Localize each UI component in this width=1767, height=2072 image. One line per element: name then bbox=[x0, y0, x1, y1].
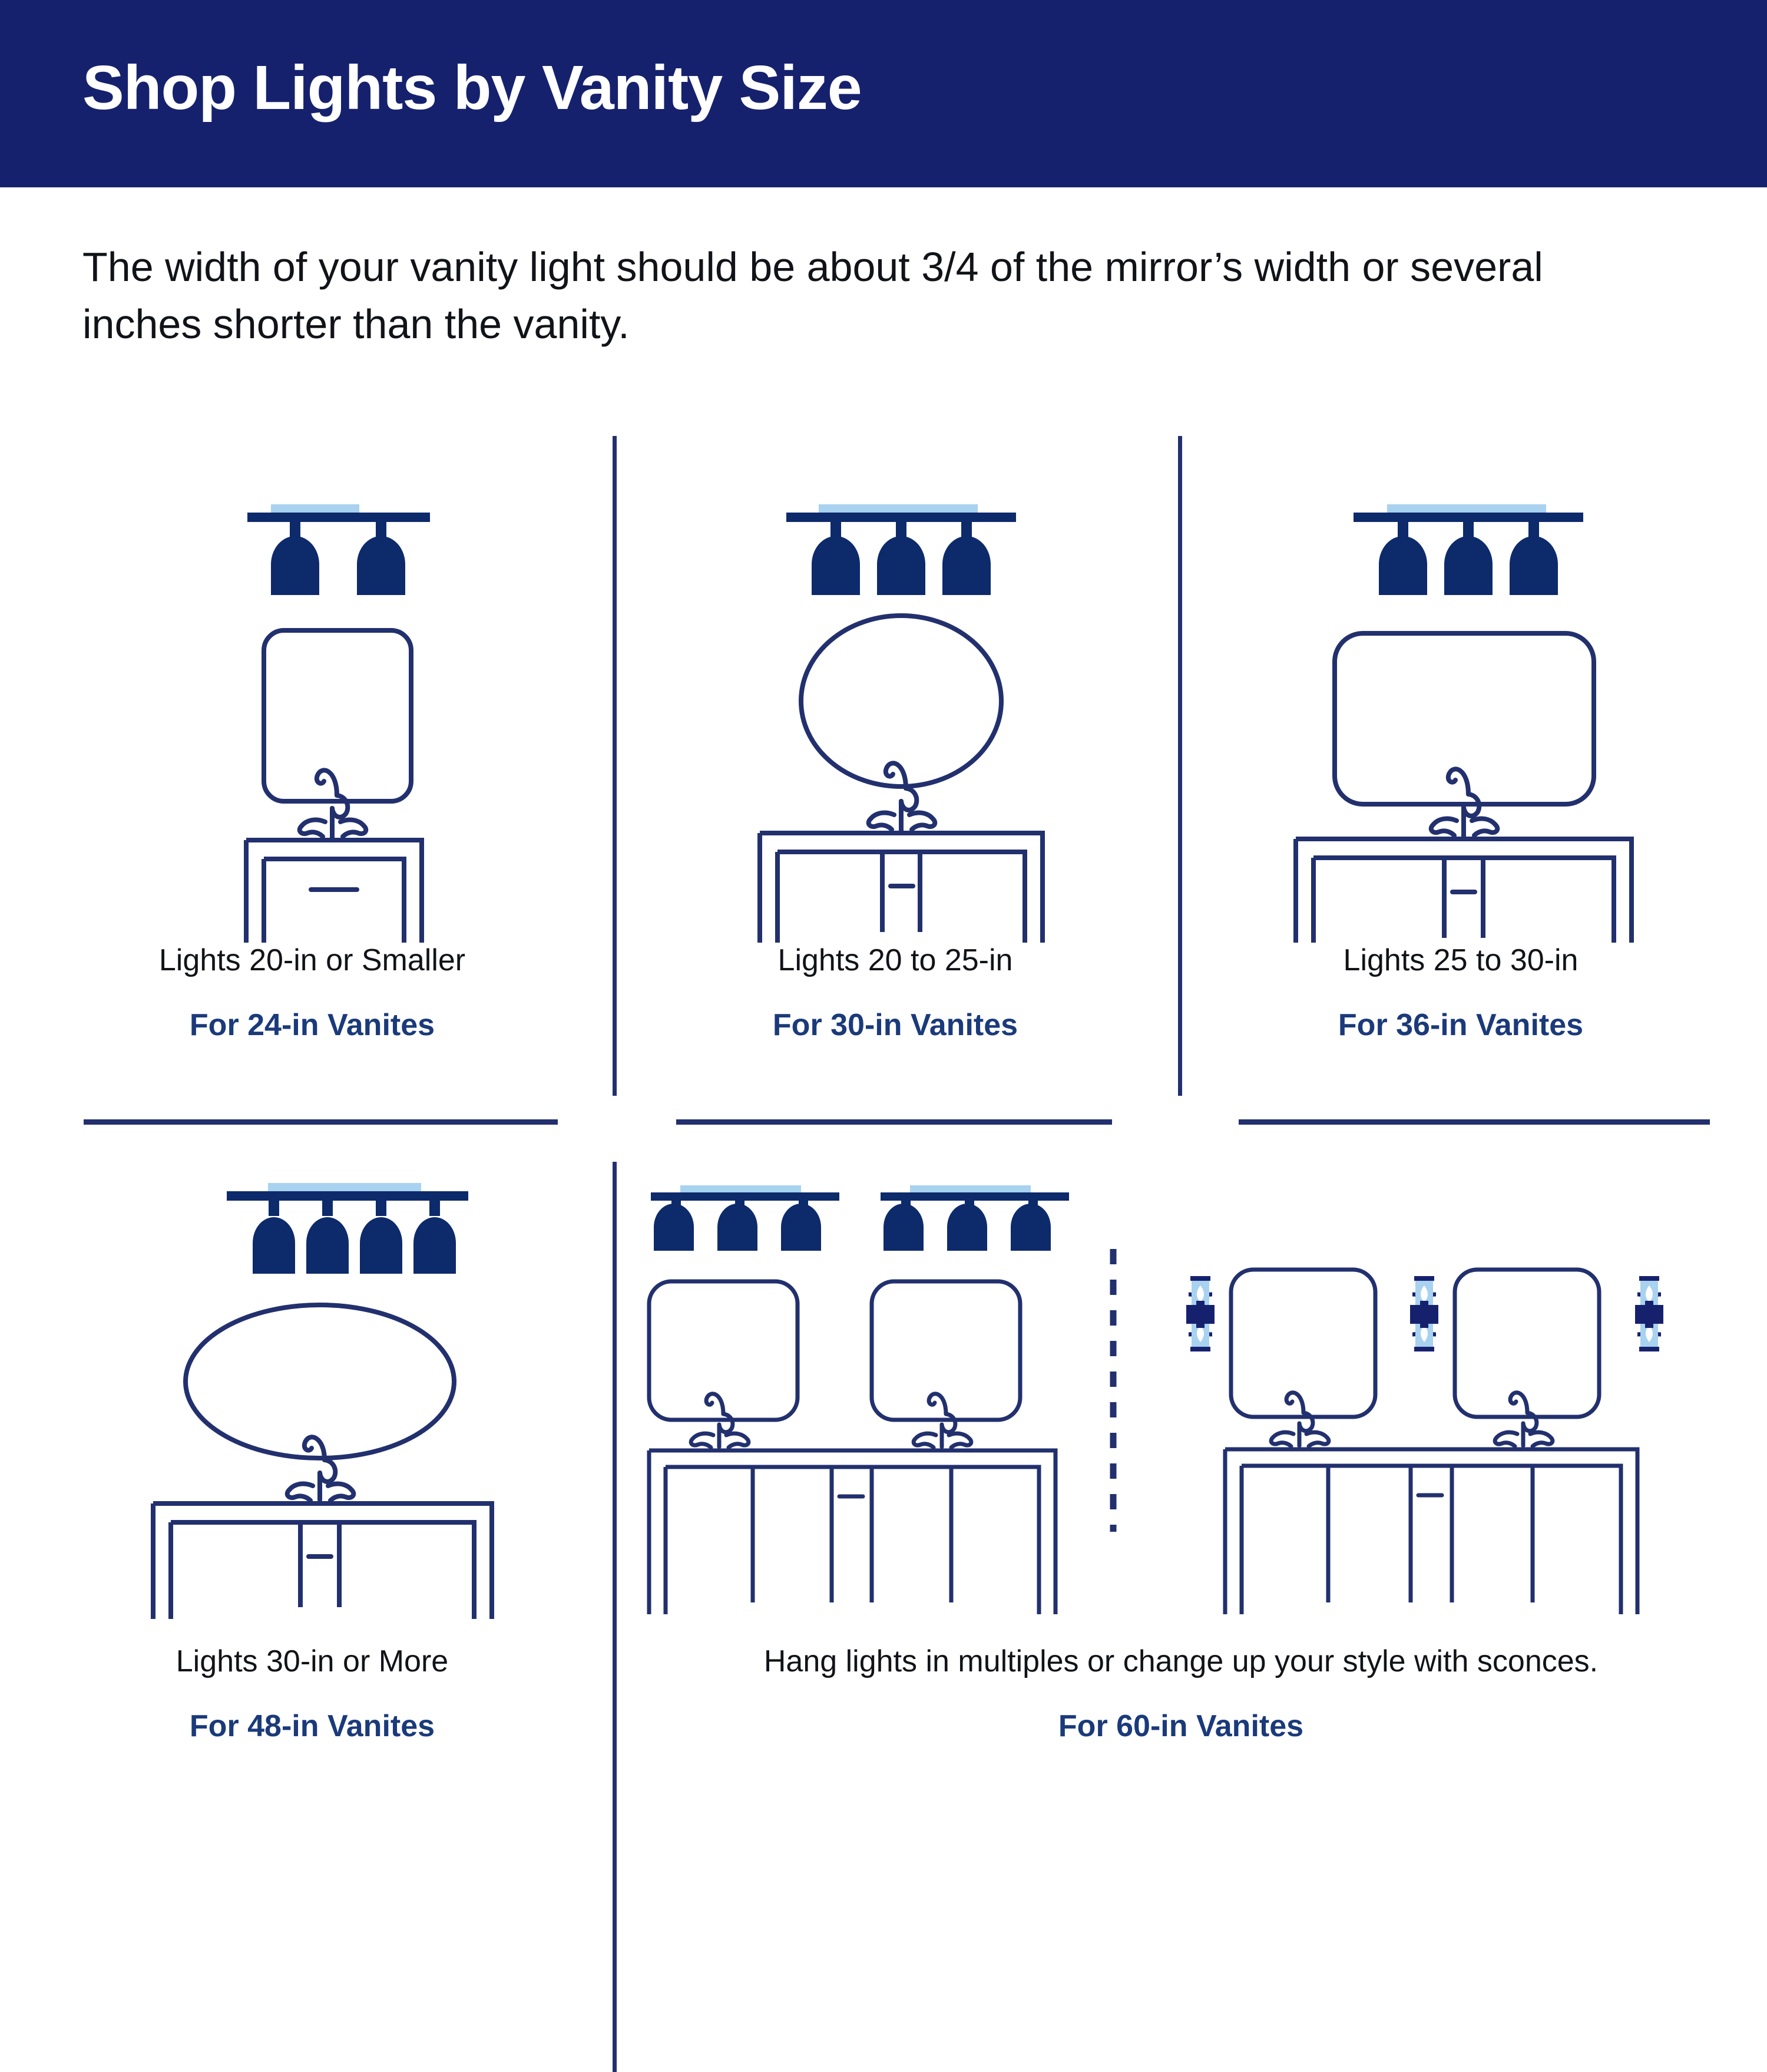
divider-vertical-bottom bbox=[613, 1162, 617, 2072]
cell-36in-subcaption: For 36-in Vanites bbox=[1196, 1007, 1726, 1043]
cell-30in-illustration bbox=[636, 424, 1154, 954]
cell-24in-caption: Lights 20-in or Smaller bbox=[35, 943, 589, 978]
faucet bbox=[300, 770, 366, 838]
bulb-stem-1 bbox=[1398, 518, 1408, 537]
bulb-shade-1 bbox=[883, 1204, 924, 1251]
bulb-shade-2 bbox=[306, 1217, 349, 1274]
bulb-stem-2 bbox=[896, 518, 906, 537]
bulb-stem-3 bbox=[961, 518, 972, 537]
mirror-ellipse bbox=[186, 1305, 454, 1458]
bulb-stem-3 bbox=[376, 1197, 386, 1216]
double-vanity-with-bar-lights bbox=[649, 1185, 1069, 1614]
cell-60in: Hang lights in multiples or change up yo… bbox=[636, 1178, 1726, 1767]
vanity-illustration-30in bbox=[636, 424, 1154, 954]
mirror-circle bbox=[801, 616, 1001, 786]
bulb-shade-4 bbox=[413, 1217, 456, 1274]
bulb-shade-1 bbox=[1379, 536, 1427, 595]
bulb-stem-1 bbox=[830, 518, 841, 537]
bulb-shade-1 bbox=[654, 1204, 694, 1251]
bulb-shade-2 bbox=[717, 1204, 757, 1251]
bulb-shade-3 bbox=[942, 536, 991, 595]
vanity-size-grid: Lights 20-in or Smaller For 24-in Vanite… bbox=[0, 353, 1767, 1753]
bulb-stem-2 bbox=[1463, 518, 1474, 537]
bulb-shade-2 bbox=[357, 536, 405, 595]
cell-24in-subcaption: For 24-in Vanites bbox=[35, 1007, 589, 1043]
bulb-stem-1 bbox=[269, 1197, 279, 1216]
fixture-rod bbox=[247, 513, 430, 522]
wall-sconce-1 bbox=[1186, 1276, 1215, 1351]
bulb-shade-1 bbox=[271, 536, 319, 595]
bulb-shade-2 bbox=[947, 1204, 987, 1251]
cell-24in: Lights 20-in or Smaller For 24-in Vanite… bbox=[35, 424, 589, 1102]
cell-60in-caption: Hang lights in multiples or change up yo… bbox=[636, 1644, 1726, 1679]
light-fixture-4-bulb bbox=[227, 1183, 468, 1274]
vanity-cabinet-single bbox=[246, 840, 422, 943]
cell-48in-subcaption: For 48-in Vanites bbox=[35, 1709, 589, 1744]
bulb-stem-2 bbox=[322, 1197, 333, 1216]
page-header: Shop Lights by Vanity Size bbox=[0, 0, 1767, 187]
intro-paragraph: The width of your vanity light should be… bbox=[82, 239, 1649, 352]
mirror-right bbox=[1455, 1270, 1599, 1417]
vanity-cabinet-wide bbox=[1296, 839, 1632, 943]
mirror-right bbox=[872, 1281, 1020, 1420]
vanity-illustration-36in bbox=[1196, 424, 1726, 954]
mirror-left bbox=[649, 1281, 798, 1420]
light-fixture-3-bulb-left bbox=[651, 1185, 839, 1251]
vanity-illustration-60in bbox=[636, 1178, 1726, 1638]
double-vanity-with-sconces bbox=[1186, 1270, 1663, 1614]
faucet-right bbox=[1495, 1393, 1553, 1446]
bulb-stem-4 bbox=[429, 1197, 440, 1216]
vanity-cabinet-wide bbox=[153, 1503, 492, 1619]
mirror-rounded-rect bbox=[264, 630, 411, 801]
cell-60in-illustration bbox=[636, 1178, 1726, 1638]
faucet bbox=[869, 763, 935, 831]
page-title: Shop Lights by Vanity Size bbox=[82, 57, 862, 119]
light-fixture-3-bulb bbox=[1354, 504, 1583, 595]
bulb-stem-3 bbox=[1528, 518, 1539, 537]
cell-48in: Lights 30-in or More For 48-in Vanites bbox=[35, 1178, 589, 1767]
cell-36in-caption: Lights 25 to 30-in bbox=[1196, 943, 1726, 978]
bulb-shade-3 bbox=[360, 1217, 402, 1274]
faucet bbox=[287, 1437, 354, 1501]
cell-24in-illustration bbox=[35, 424, 589, 954]
cell-30in: Lights 20 to 25-in For 30-in Vanites bbox=[636, 424, 1154, 1102]
sconce-center-block bbox=[1186, 1305, 1215, 1324]
bulb-shade-2 bbox=[1444, 536, 1493, 595]
sconce-cap-bottom bbox=[1414, 1347, 1434, 1351]
sconce-cap-bottom bbox=[1190, 1347, 1210, 1351]
wall-sconce-3 bbox=[1635, 1276, 1663, 1351]
light-fixture-3-bulb-right bbox=[881, 1185, 1069, 1251]
divider-horizontal-left bbox=[84, 1119, 558, 1125]
vanity-cabinet-wide bbox=[760, 833, 1043, 943]
light-fixture-3-bulb bbox=[786, 504, 1016, 595]
sconce-cap-top bbox=[1190, 1276, 1210, 1281]
cell-36in: Lights 25 to 30-in For 36-in Vanites bbox=[1196, 424, 1726, 1102]
bulb-shade-3 bbox=[1011, 1204, 1051, 1251]
cell-36in-illustration bbox=[1196, 424, 1726, 954]
vanity-cabinet-double-left bbox=[649, 1450, 1055, 1614]
bulb-stem-2 bbox=[376, 518, 386, 537]
faucet-left bbox=[1271, 1393, 1329, 1446]
sconce-cap-bottom bbox=[1639, 1347, 1659, 1351]
bulb-shade-3 bbox=[781, 1204, 821, 1251]
bulb-shade-1 bbox=[812, 536, 860, 595]
cell-60in-subcaption: For 60-in Vanites bbox=[636, 1709, 1726, 1744]
bulb-shade-1 bbox=[253, 1217, 295, 1274]
bulb-stem-1 bbox=[290, 518, 300, 537]
divider-vertical-top-right bbox=[1178, 436, 1182, 1096]
vanity-illustration-24in bbox=[35, 424, 589, 954]
sconce-center-block bbox=[1410, 1305, 1438, 1324]
sconce-cap-top bbox=[1414, 1276, 1434, 1281]
wall-sconce-2 bbox=[1410, 1276, 1438, 1351]
bulb-shade-3 bbox=[1510, 536, 1558, 595]
divider-horizontal-middle bbox=[676, 1119, 1112, 1125]
cell-30in-subcaption: For 30-in Vanites bbox=[636, 1007, 1154, 1043]
cell-48in-illustration bbox=[35, 1178, 589, 1638]
divider-horizontal-right bbox=[1239, 1119, 1710, 1125]
cell-30in-caption: Lights 20 to 25-in bbox=[636, 943, 1154, 978]
sconce-cap-top bbox=[1639, 1276, 1659, 1281]
sconce-center-block bbox=[1635, 1305, 1663, 1324]
light-fixture-2-bulb bbox=[247, 504, 430, 595]
cell-48in-caption: Lights 30-in or More bbox=[35, 1644, 589, 1679]
divider-vertical-top-left bbox=[613, 436, 617, 1096]
vanity-cabinet-double-right bbox=[1225, 1449, 1637, 1614]
vanity-illustration-48in bbox=[35, 1178, 589, 1638]
mirror-left bbox=[1231, 1270, 1375, 1417]
bulb-shade-2 bbox=[877, 536, 925, 595]
